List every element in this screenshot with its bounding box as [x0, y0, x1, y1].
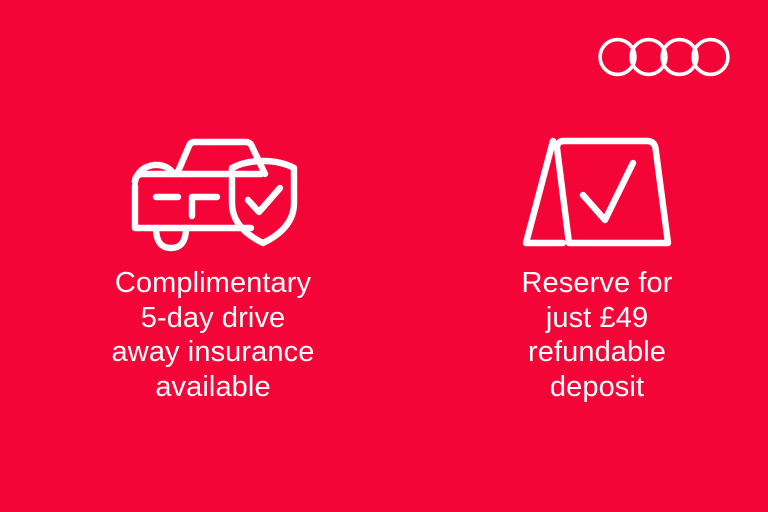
car-shield-icon — [129, 130, 297, 252]
benefit-item-insurance: Complimentary 5-day drive away insurance… — [0, 130, 426, 404]
audi-four-rings-icon — [598, 36, 730, 78]
audi-rings-svg — [598, 36, 730, 78]
benefit-item-deposit: Reserve for just £49 refundable deposit — [426, 130, 768, 404]
promo-banner: Complimentary 5-day drive away insurance… — [0, 0, 768, 512]
car-shield-svg — [129, 134, 297, 248]
tent-card-svg — [521, 133, 673, 249]
benefits-row: Complimentary 5-day drive away insurance… — [0, 130, 768, 404]
benefit-label-deposit: Reserve for just £49 refundable deposit — [447, 266, 747, 404]
benefit-label-insurance: Complimentary 5-day drive away insurance… — [48, 266, 378, 404]
tent-card-checkmark-icon — [521, 130, 673, 252]
